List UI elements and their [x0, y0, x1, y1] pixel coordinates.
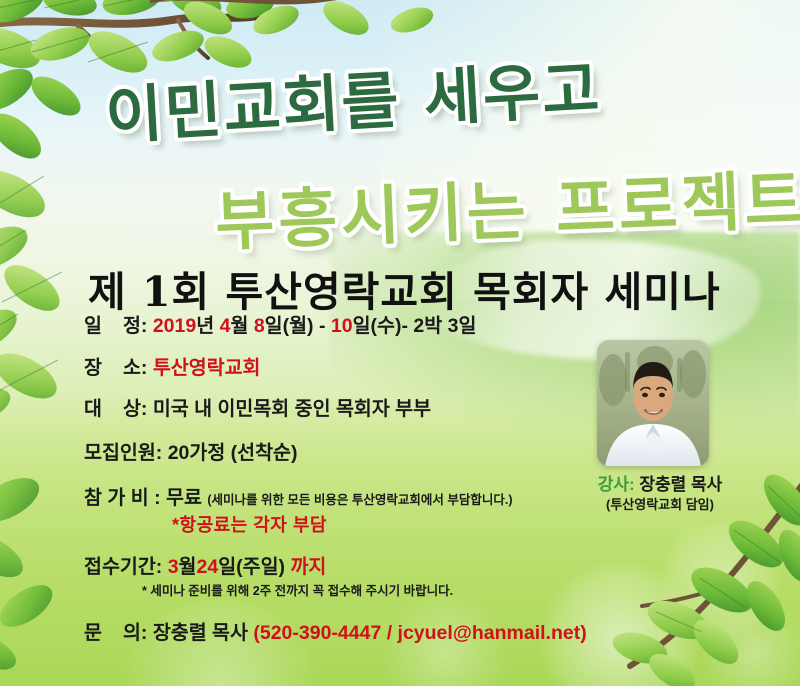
- label-audience: 대: [84, 398, 123, 420]
- deadline-month: 3: [168, 556, 179, 578]
- fee-airfare-note: *항공료는 각자 부담: [172, 516, 724, 534]
- info-row-deadline: 접수기간: 3월24일(주일) 까지 * 세미나 준비를 위해 2주 전까지 꼭…: [84, 558, 724, 598]
- capacity-value: 20가정 (선착순): [168, 442, 298, 464]
- info-row-contact: 문의: 장충렬 목사 (520-390-4447 / jcyuel@hanmai…: [84, 624, 724, 644]
- schedule-year: 2019: [153, 315, 196, 337]
- speaker-photo: [597, 340, 709, 466]
- speaker-affiliation: (투산영락교회 담임): [575, 494, 745, 513]
- contact-details[interactable]: (520-390-4447 / jcyuel@hanmail.net): [253, 622, 586, 644]
- schedule-end-day: 10: [331, 315, 353, 337]
- schedule-day-unit: 일(월): [265, 315, 314, 337]
- page-title: 제 1회 투산영락교회 목회자 세미나: [88, 258, 721, 318]
- deadline-until: 까지: [290, 556, 326, 578]
- schedule-year-unit: 년: [196, 315, 214, 337]
- schedule-month-unit: 월: [230, 315, 248, 337]
- deadline-month-unit: 월: [179, 556, 197, 578]
- label-place: 장: [84, 357, 123, 379]
- label-contact: 문: [84, 622, 123, 644]
- fee-value: 무료: [166, 487, 202, 509]
- label-place-tail: 소:: [123, 357, 147, 379]
- audience-value: 미국 내 이민목회 중인 목회자 부부: [153, 398, 431, 420]
- schedule-dash: -: [314, 315, 331, 337]
- label-audience-tail: 상:: [123, 398, 147, 420]
- label-contact-tail: 의:: [123, 622, 147, 644]
- schedule-month: 4: [220, 315, 231, 337]
- info-row-schedule: 일정: 2019년 4월 8일(월) - 10일(수)- 2박 3일: [84, 317, 724, 337]
- speaker-portrait-icon: [597, 340, 709, 466]
- seminar-poster: 이민교회를 세우고 부흥시키는 프로젝트 제 1회 투산영락교회 목회자 세미나…: [0, 0, 800, 686]
- schedule-duration: 2박 3일: [413, 315, 476, 337]
- schedule-end-unit: 일(수)-: [353, 315, 408, 337]
- deadline-day: 24: [197, 556, 219, 578]
- place-value: 투산영락교회: [153, 357, 261, 379]
- deadline-note: * 세미나 준비를 위해 2주 전까지 꼭 접수해 주시기 바랍니다.: [142, 585, 724, 598]
- label-schedule-tail: 정:: [123, 315, 147, 337]
- label-fee: 참 가 비 :: [84, 487, 161, 509]
- deadline-day-unit: 일(주일): [218, 556, 285, 578]
- label-capacity: 모집인원:: [84, 442, 162, 464]
- label-schedule: 일: [84, 315, 123, 337]
- speaker-name: 장충렬 목사: [639, 475, 722, 494]
- fee-note: (세미나를 위한 모든 비용은 투산영락교회에서 부담합니다.): [207, 493, 512, 507]
- label-deadline: 접수기간:: [84, 556, 162, 578]
- schedule-day: 8: [254, 315, 265, 337]
- speaker-name-line: 강사: 장충렬 목사: [575, 470, 745, 495]
- speaker-role-label: 강사:: [598, 475, 635, 494]
- contact-name: 장충렬 목사: [153, 622, 248, 644]
